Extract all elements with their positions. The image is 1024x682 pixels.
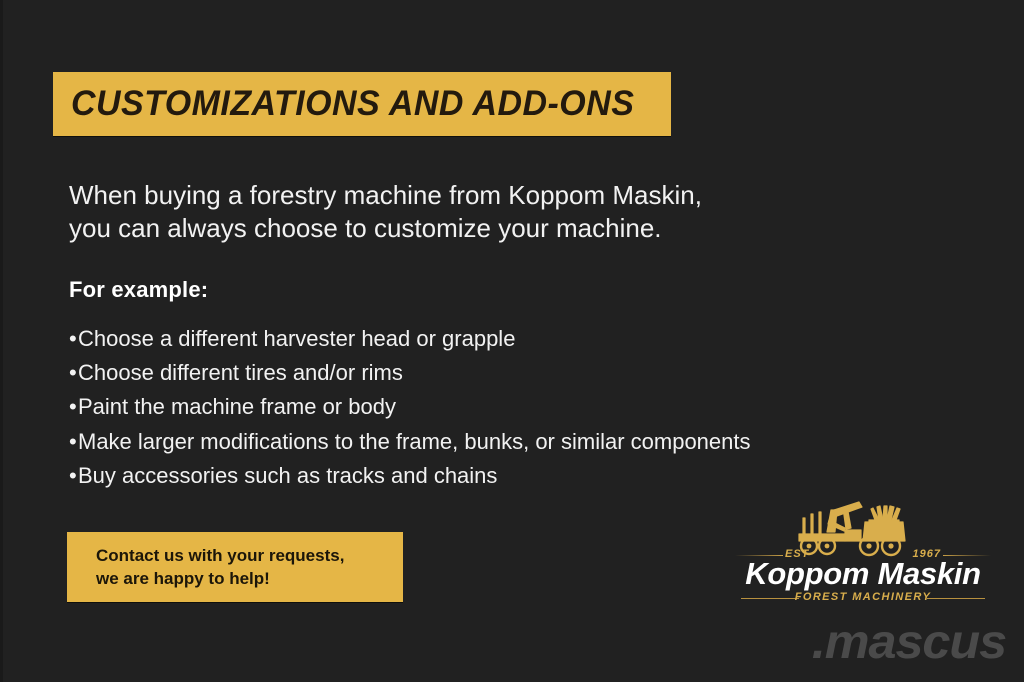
mascus-watermark: .mascus bbox=[812, 615, 1006, 670]
company-logo: EST 1967 Koppom Maskin FOREST MACHINERY bbox=[729, 498, 997, 608]
contact-line-2: we are happy to help! bbox=[96, 567, 403, 590]
logo-tagline-rule-right bbox=[927, 598, 985, 599]
logo-tagline: FOREST MACHINERY bbox=[729, 591, 997, 603]
logo-wordmark: Koppom Maskin bbox=[729, 556, 997, 592]
page-title: CUSTOMIZATIONS AND ADD-ONS bbox=[71, 84, 634, 124]
list-item-label: Choose different tires and/or rims bbox=[78, 360, 403, 385]
customization-list: •Choose a different harvester head or gr… bbox=[69, 322, 829, 493]
intro-paragraph: When buying a forestry machine from Kopp… bbox=[69, 179, 769, 245]
list-item: •Choose a different harvester head or gr… bbox=[69, 322, 829, 356]
list-item-label: Choose a different harvester head or gra… bbox=[78, 326, 515, 351]
bullet-icon: • bbox=[69, 459, 78, 493]
intro-line-2: you can always choose to customize your … bbox=[69, 212, 769, 245]
for-example-label: For example: bbox=[69, 277, 208, 303]
list-item: •Choose different tires and/or rims bbox=[69, 356, 829, 390]
bullet-icon: • bbox=[69, 390, 78, 424]
list-item-label: Buy accessories such as tracks and chain… bbox=[78, 463, 497, 488]
promo-poster: CUSTOMIZATIONS AND ADD-ONS When buying a… bbox=[0, 0, 1024, 682]
intro-line-1: When buying a forestry machine from Kopp… bbox=[69, 179, 769, 212]
bullet-icon: • bbox=[69, 322, 78, 356]
list-item-label: Paint the machine frame or body bbox=[78, 394, 396, 419]
bullet-icon: • bbox=[69, 356, 78, 390]
list-item: •Paint the machine frame or body bbox=[69, 390, 829, 424]
list-item-label: Make larger modifications to the frame, … bbox=[78, 429, 751, 454]
list-item: •Buy accessories such as tracks and chai… bbox=[69, 459, 829, 493]
bullet-icon: • bbox=[69, 425, 78, 459]
title-banner: CUSTOMIZATIONS AND ADD-ONS bbox=[53, 72, 671, 136]
contact-cta-box[interactable]: Contact us with your requests, we are ha… bbox=[67, 532, 403, 602]
list-item: •Make larger modifications to the frame,… bbox=[69, 425, 829, 459]
logo-tagline-row: FOREST MACHINERY bbox=[729, 591, 997, 605]
contact-line-1: Contact us with your requests, bbox=[96, 544, 403, 567]
